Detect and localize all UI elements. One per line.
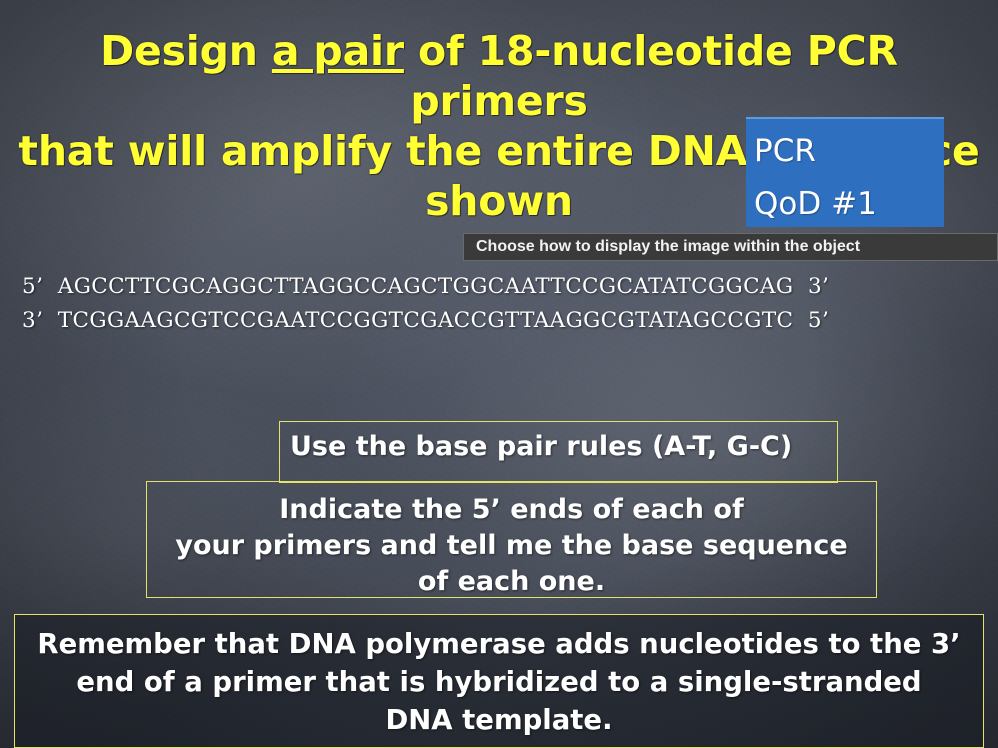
- title-underlined-phrase: a pair: [272, 27, 404, 75]
- remember-line-2: end of a primer that is hybridized to a …: [15, 663, 983, 701]
- dna-sequence-block: 5’ AGCCTTCGCAGGCTTAGGCCAGCTGGCAATTCCGCAT…: [22, 270, 976, 338]
- title-line-1-part-a: Design: [100, 27, 272, 75]
- indicate-line-1: Indicate the 5’ ends of each of: [147, 492, 876, 528]
- pcr-box-line-1: PCR: [754, 125, 944, 178]
- instruction-box-indicate-ends: Indicate the 5’ ends of each of your pri…: [146, 481, 877, 598]
- title-line-1-part-b: of 18-nucleotide PCR primers: [404, 27, 898, 125]
- slide-canvas: Design a pair of 18-nucleotide PCR prime…: [0, 0, 998, 748]
- remember-line-1: Remember that DNA polymerase adds nucleo…: [15, 625, 983, 663]
- dna-bottom-strand: 3’ TCGGAAGCGTCCGAATCCGGTCGACCGTTAAGGCGTA…: [22, 304, 976, 338]
- indicate-line-3: of each one.: [147, 564, 876, 600]
- title-line-3: shown: [425, 177, 573, 225]
- dna-top-strand: 5’ AGCCTTCGCAGGCTTAGGCCAGCTGGCAATTCCGCAT…: [22, 270, 976, 304]
- pcr-qod-box[interactable]: PCR QoD #1: [746, 117, 944, 227]
- remember-line-3: DNA template.: [15, 701, 983, 739]
- pcr-box-line-2: QoD #1: [754, 178, 944, 231]
- indicate-line-2: your primers and tell me the base sequen…: [147, 528, 876, 564]
- instruction-box-base-pair-rules: Use the base pair rules (A-T, G-C): [279, 421, 838, 483]
- instruction-box-remember-polymerase: Remember that DNA polymerase adds nucleo…: [14, 614, 984, 748]
- image-display-tooltip: Choose how to display the image within t…: [463, 233, 998, 261]
